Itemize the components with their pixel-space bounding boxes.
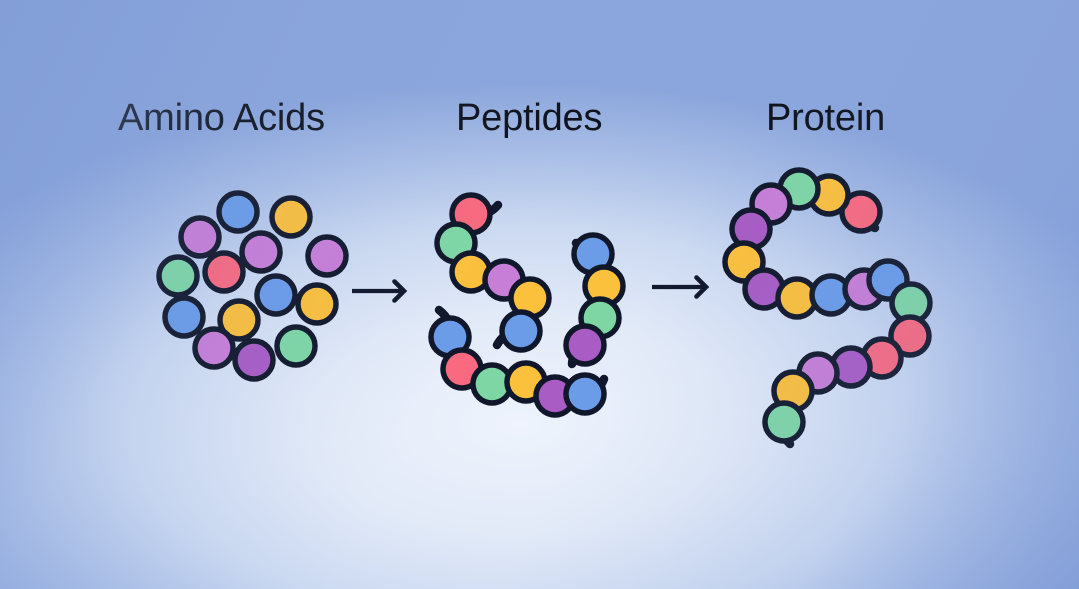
amino-acid-bead bbox=[197, 331, 232, 366]
peptide-beads bbox=[568, 237, 622, 363]
protein-beads bbox=[727, 172, 929, 440]
amino-acid-bead bbox=[167, 300, 202, 335]
peptide-bead bbox=[568, 328, 603, 363]
diagram-artwork bbox=[0, 0, 1079, 589]
amino-acid-bead bbox=[274, 200, 309, 235]
amino-acid-bead bbox=[279, 329, 314, 364]
amino-acid-bead bbox=[237, 343, 272, 378]
amino-acid-bead bbox=[221, 195, 256, 230]
arrow-peptides-to-protein bbox=[652, 278, 706, 297]
peptide-bead bbox=[504, 314, 539, 349]
peptide-chain bbox=[568, 237, 622, 365]
protein-chain bbox=[727, 172, 929, 445]
amino-acid-bead bbox=[259, 278, 294, 313]
amino-acid-bead bbox=[310, 239, 345, 274]
amino-acid-bead bbox=[183, 220, 218, 255]
amino-acid-bead bbox=[207, 255, 242, 290]
amino-acid-bead bbox=[161, 259, 196, 294]
arrow-amino-to-peptides bbox=[352, 282, 404, 301]
amino-acid-cluster bbox=[161, 195, 345, 378]
peptide-bead bbox=[475, 367, 510, 402]
protein-bead bbox=[767, 405, 802, 440]
peptide-chains bbox=[433, 197, 622, 414]
peptide-bead bbox=[568, 377, 603, 412]
amino-acid-bead bbox=[300, 287, 335, 322]
protein-bead bbox=[780, 281, 815, 316]
diagram-canvas: Amino Acids Peptides Protein bbox=[0, 0, 1079, 589]
amino-acid-bead bbox=[244, 235, 279, 270]
